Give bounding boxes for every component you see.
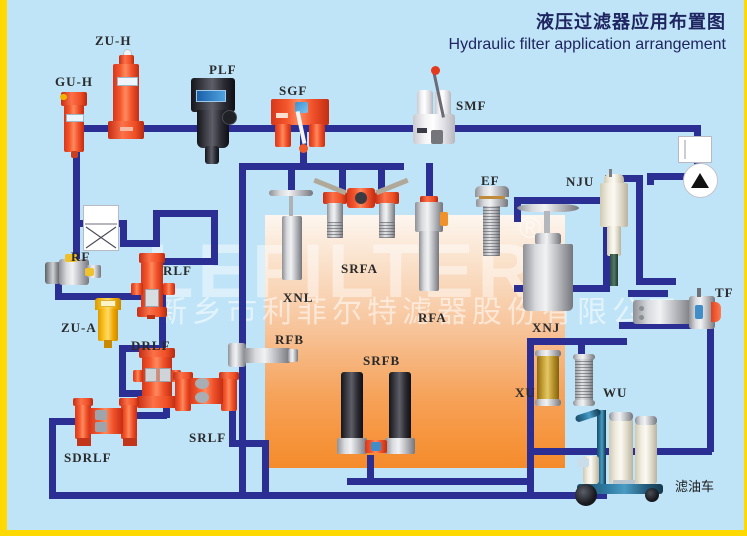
component-nju [599,174,629,286]
component-xnl [269,190,313,286]
label-tf: TF [715,285,734,301]
component-zu-h [108,49,144,139]
label-srfb: SRFB [363,353,400,369]
pipe-rfa-drop [426,163,433,198]
pipe-cyl-right-down [211,210,218,265]
page-title-english: Hydraulic filter application arrangement [449,36,726,54]
component-rfa [411,196,447,296]
actuator-symbol [83,205,119,251]
pump-triangle-icon [691,173,709,188]
pipe-bottom-main [49,492,607,499]
pipe-right-main-down [707,322,714,452]
component-wu [573,354,595,406]
valve-block-symbol [678,136,712,163]
label-rfb: RFB [275,332,304,348]
component-sgf [271,99,329,155]
component-xu [535,350,561,406]
component-gu-h [60,92,88,158]
pipe-top-main [73,125,701,132]
pipe-pump-down [647,173,654,185]
label-xnl: XNL [283,290,313,306]
component-tf [633,296,721,330]
pipe-cyl-top2 [153,210,218,217]
diagram-canvas: 液压过滤器应用布置图 Hydraulic filter application … [0,0,747,536]
label-gu-h: GU-H [55,74,93,90]
pipe-cyl-right-up [120,220,127,240]
component-plf [189,78,237,164]
pipe-nju-bottom [636,278,676,285]
component-smf [413,86,455,148]
component-srfb [337,372,417,460]
label-rfa: RFA [418,310,447,326]
valve-arrow-icon [679,137,711,162]
pipe-xu-top [527,338,627,345]
pipe-tank-left-wall [239,163,246,493]
page-title-chinese: 液压过滤器应用布置图 [536,8,726,34]
component-ef [475,186,509,258]
label-xu: XU [515,385,536,401]
label-sgf: SGF [279,83,307,99]
label-drlf: DRLF [131,338,170,354]
hydraulic-pump-symbol [683,163,718,198]
pipe-cart-left [527,448,534,494]
label-zu-h: ZU-H [95,33,132,49]
label-oil-filter-cart: 滤油车 [675,476,714,495]
label-zu-a: ZU-A [61,320,97,336]
component-xnj [517,204,579,314]
pipe-xnj-top [514,197,609,204]
label-smf: SMF [456,98,486,114]
pipe-srfb-bottom [347,478,527,485]
label-plf: PLF [209,62,237,78]
component-srlf [167,370,245,424]
label-ef: EF [481,173,500,189]
label-srfa: SRFA [341,261,378,277]
label-xnj: XNJ [532,320,560,336]
component-sdrlf [67,394,145,450]
label-rf: RF [71,249,90,265]
pipe-nju-vertical [636,175,643,285]
component-srfa [317,184,407,244]
pipe-left-chain-3 [119,345,126,395]
pipe-xnl-drop [288,163,295,193]
component-zu-a [95,298,121,348]
label-srlf: SRLF [189,430,226,446]
component-oil-filter-cart [573,404,677,500]
label-sdrlf: SDRLF [64,450,112,466]
pipe-sdrlf-left [49,418,56,498]
actuator-cross-icon [84,206,118,250]
label-wu: WU [603,385,627,401]
pipe-srlf-down [262,440,269,496]
label-rlf: RLF [163,263,192,279]
label-nju: NJU [566,174,594,190]
